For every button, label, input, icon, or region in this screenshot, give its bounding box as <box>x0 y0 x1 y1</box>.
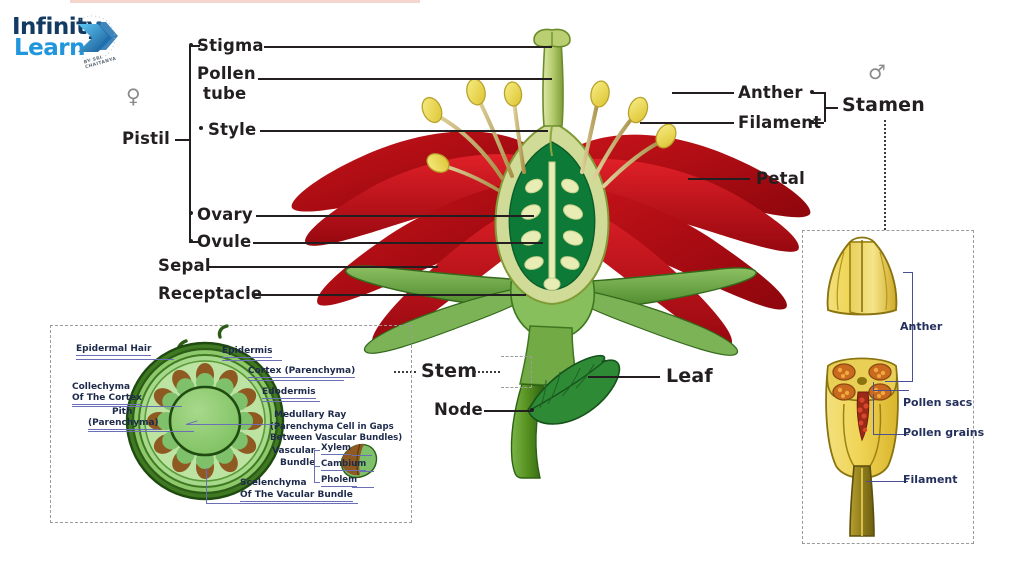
label-node: Node <box>434 400 483 419</box>
label-stem: Stem <box>421 360 477 382</box>
ovary-bracket-dot <box>189 211 193 215</box>
label-sclerenchyma-line1: Scelenchyma <box>240 478 307 488</box>
ovule-bracket-dot <box>189 239 193 243</box>
cambium-leader <box>360 471 374 472</box>
label-epidermis: Epidermis <box>222 346 272 358</box>
label-collenchyma-line2: Of The Cortex <box>72 393 142 405</box>
receptacle-leader <box>252 294 526 296</box>
endodermis-leader <box>262 401 320 402</box>
label-collenchyma-line1: Collechyma <box>72 382 130 392</box>
stem-section-marker <box>501 356 532 388</box>
sclerenchyma-leader <box>206 503 358 504</box>
vascular-bracket-mid <box>314 466 320 467</box>
pollen-sacs-leader <box>873 390 909 391</box>
label-medullary-note-line2: Between Vascular Bundles) <box>270 433 402 443</box>
label-vascular-bundle-line1: Vascular <box>272 446 315 456</box>
label-epidermal-hair: Epidermal Hair <box>76 344 151 356</box>
label-cortex: Cortex (Parenchyma) <box>248 366 355 378</box>
label-pollen-sacs: Pollen sacs <box>903 396 972 409</box>
label-pollen-grains: Pollen grains <box>903 426 984 439</box>
pollen-grains-riser <box>873 394 874 435</box>
xylem-leader <box>352 455 372 456</box>
stamen-bracket-bottom <box>812 122 824 124</box>
stamen-to-inset-connector <box>884 120 886 230</box>
stamen-connector <box>824 107 838 109</box>
label-pith-line1: Pith <box>112 407 132 417</box>
label-stamen: Stamen <box>842 94 925 116</box>
pollen-tube-leader <box>258 78 552 80</box>
label-filament: Filament <box>738 113 821 132</box>
label-anther: Anther <box>738 83 803 102</box>
label-medullary-ray: Medullary Ray <box>274 410 346 420</box>
leaf-leader <box>588 376 660 378</box>
logo-chevron-icon <box>72 16 130 60</box>
epidermal-hair-leader <box>76 359 174 360</box>
pistil-connector <box>175 139 189 141</box>
style-leader <box>260 130 548 132</box>
label-ovule: Ovule <box>197 232 251 251</box>
label-pollen-tube-line1: Pollen <box>197 64 256 83</box>
petal-leader <box>688 178 750 180</box>
sepal-leader <box>208 266 438 268</box>
node-point <box>530 408 534 412</box>
label-petal: Petal <box>756 169 805 188</box>
anther-inset-bracket-top <box>903 272 913 273</box>
vascular-bracket-top <box>314 450 320 451</box>
filament-leader <box>640 122 734 124</box>
label-sepal: Sepal <box>158 256 211 275</box>
top-accent-line <box>70 0 420 3</box>
label-pith-line2: (Parenchyma) <box>88 418 159 430</box>
label-pistil: Pistil <box>122 129 170 148</box>
stigma-bracket-dot <box>189 43 193 47</box>
pith-leader <box>88 431 194 432</box>
infinity-learn-logo: Infinity Learn BY SRI CHAITANYA <box>12 14 124 62</box>
stem-dotted-right <box>474 371 500 373</box>
label-inset-filament: Filament <box>903 473 958 486</box>
label-sclerenchyma-line2: Of The Vacular Bundle <box>240 490 353 502</box>
vascular-bracket-bottom <box>314 482 320 483</box>
label-pollen-tube-line2: tube <box>203 84 246 103</box>
label-receptacle: Receptacle <box>158 284 262 303</box>
male-symbol: ♂ <box>868 60 886 84</box>
anther-detail-illustration <box>802 230 972 542</box>
label-cambium: Cambium <box>321 459 366 471</box>
anther-inset-bracket-tick <box>885 381 905 382</box>
cortex-leader <box>248 380 344 381</box>
diagram-canvas: Infinity Learn BY SRI CHAITANYA <box>0 0 1024 577</box>
phloem-leader <box>352 487 374 488</box>
epidermis-leader <box>222 360 282 361</box>
stigma-leader <box>264 46 552 48</box>
medullary-leader <box>186 424 276 425</box>
label-phloem: Pholem <box>321 475 357 487</box>
sclerenchyma-leader-riser <box>206 468 207 504</box>
label-endodermis: Edodermis <box>262 387 316 399</box>
style-bracket-dot <box>199 126 203 130</box>
pollen-sacs-riser <box>873 382 874 391</box>
label-xylem: Xylem <box>321 443 351 455</box>
label-vascular-bundle-line2: Bundle <box>280 458 315 468</box>
label-leaf: Leaf <box>666 365 713 387</box>
female-symbol: ♀ <box>126 84 141 108</box>
label-ovary: Ovary <box>197 205 253 224</box>
inset-filament-leader <box>866 481 908 482</box>
ovule-leader <box>253 242 543 244</box>
label-stigma: Stigma <box>197 36 264 55</box>
ovary-leader <box>256 215 534 217</box>
label-style: Style <box>208 120 256 139</box>
stamen-bracket-top <box>812 92 824 94</box>
label-inset-anther: Anther <box>900 320 942 333</box>
anther-leader <box>672 92 734 94</box>
label-medullary-note-line1: (Parenchyma Cell in Gaps <box>270 422 394 432</box>
node-leader <box>484 410 532 412</box>
